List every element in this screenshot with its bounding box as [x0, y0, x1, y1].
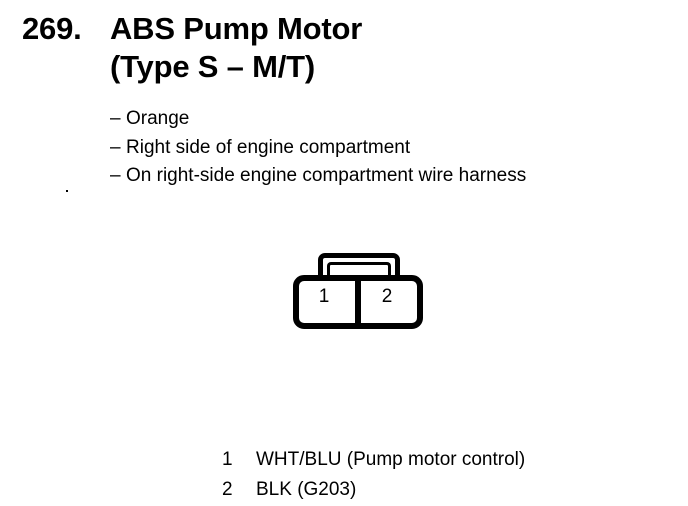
pin-legend: 1 WHT/BLU (Pump motor control) 2 BLK (G2… — [222, 445, 662, 505]
legend-pin-number: 1 — [222, 445, 256, 475]
list-item: – Right side of engine compartment — [110, 134, 680, 163]
list-item-label: Orange — [126, 105, 189, 134]
detail-list: – Orange – Right side of engine compartm… — [110, 105, 680, 191]
list-item-label: Right side of engine compartment — [126, 134, 410, 163]
heading-line-1: 269. ABS Pump Motor — [22, 10, 662, 48]
dash-bullet-icon: – — [110, 162, 126, 191]
page-title: ABS Pump Motor — [110, 10, 362, 48]
list-item: – Orange — [110, 105, 680, 134]
connector-diagram: 1 2 — [293, 253, 423, 329]
legend-row: 2 BLK (G203) — [222, 475, 662, 505]
heading-line-2: (Type S – M/T) — [22, 48, 662, 86]
scan-artifact-speck — [66, 190, 68, 192]
connector-cavity-divider — [355, 275, 361, 329]
legend-pin-description: BLK (G203) — [256, 475, 356, 505]
dash-bullet-icon: – — [110, 134, 126, 163]
connector-pin-1-label: 1 — [312, 286, 336, 308]
page-heading: 269. ABS Pump Motor (Type S – M/T) — [22, 10, 662, 86]
item-number: 269. — [22, 10, 110, 48]
legend-row: 1 WHT/BLU (Pump motor control) — [222, 445, 662, 475]
list-item-label: On right-side engine compartment wire ha… — [126, 162, 526, 191]
connector-pin-2-label: 2 — [375, 286, 399, 308]
connector-reference-page: 269. ABS Pump Motor (Type S – M/T) – Ora… — [0, 0, 688, 506]
legend-pin-description: WHT/BLU (Pump motor control) — [256, 445, 525, 475]
list-item: – On right-side engine compartment wire … — [110, 162, 680, 191]
legend-pin-number: 2 — [222, 475, 256, 505]
dash-bullet-icon: – — [110, 105, 126, 134]
